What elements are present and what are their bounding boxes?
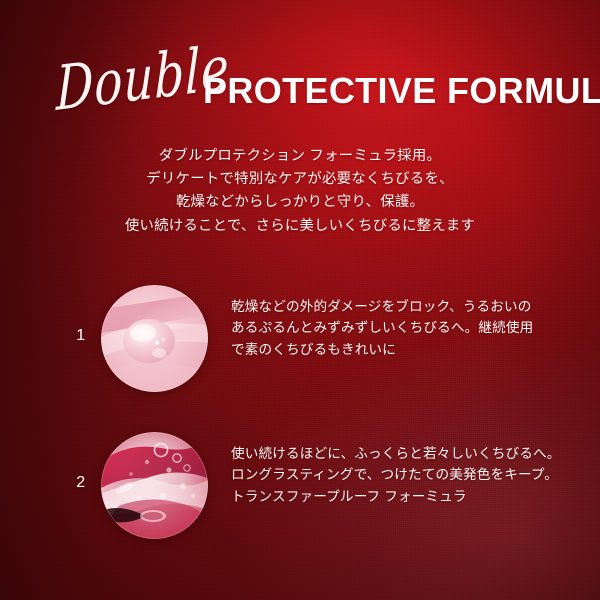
feature-1-line: で素のくちびるもきれいに [231, 339, 547, 360]
pink-gel-droplet-swatch [101, 285, 208, 392]
intro-line: デリケートで特別なケアが必要なくちびるを、 [0, 168, 600, 191]
poster-content: Double PROTECTIVE FORMULA ダブルプロテクション フォー… [0, 0, 600, 600]
feature-1-line: あるぷるんとみずみずしいくちびるへ。継続使用 [231, 317, 547, 338]
intro-line: 乾燥などからしっかりと守り、保護。 [0, 191, 600, 214]
feature-2-line: 使い続けるほどに、ふっくらと若々しいくちびるへ。 [231, 443, 547, 464]
intro-line: 使い続けることで、さらに美しいくちびるに整えます [0, 215, 600, 238]
feature-1-description: 乾燥などの外的ダメージをブロック、うるおいの あるぷるんとみずみずしいくちびるへ… [231, 296, 547, 360]
headline: Double PROTECTIVE FORMULA [0, 66, 600, 128]
crimson-swirl-gel-swatch [101, 432, 208, 539]
feature-number-2: 2 [68, 474, 94, 492]
feature-2-line: ロングラスティングで、つけたての美発色をキープ。 [231, 464, 547, 485]
feature-number-1: 1 [68, 327, 94, 345]
intro-paragraph: ダブルプロテクション フォーミュラ採用。 デリケートで特別なケアが必要なくちびる… [0, 145, 600, 238]
headline-title: PROTECTIVE FORMULA [203, 70, 600, 112]
product-feature-poster: Double PROTECTIVE FORMULA ダブルプロテクション フォー… [0, 0, 600, 600]
intro-line: ダブルプロテクション フォーミュラ採用。 [0, 145, 600, 168]
feature-1-line: 乾燥などの外的ダメージをブロック、うるおいの [231, 296, 547, 317]
feature-2-description: 使い続けるほどに、ふっくらと若々しいくちびるへ。 ロングラスティングで、つけたて… [231, 443, 547, 507]
feature-2-line: トランスファープルーフ フォーミュラ [231, 486, 547, 507]
